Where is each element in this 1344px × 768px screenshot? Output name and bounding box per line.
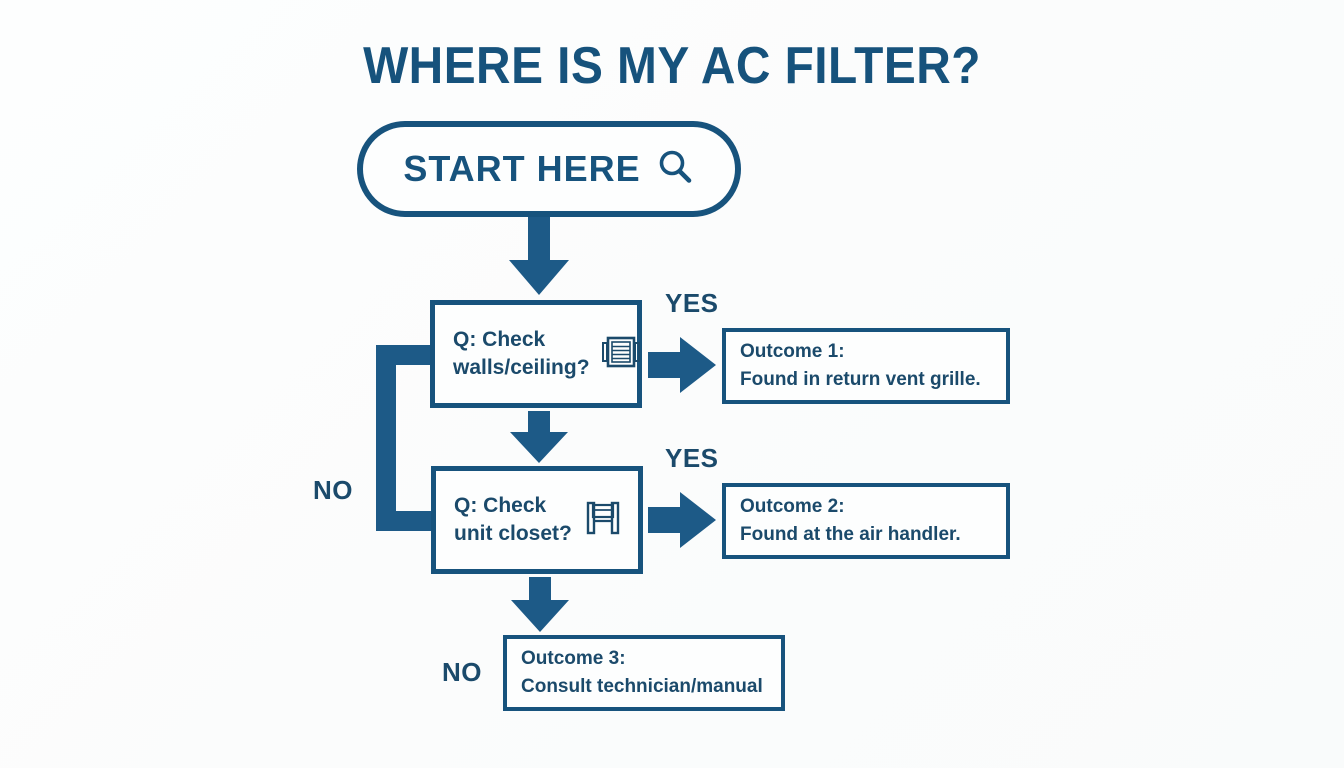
outcome2-line2: Found at the air handler. <box>740 524 961 545</box>
outcome3-line1: Outcome 3: <box>521 648 626 669</box>
arrow-question2-yes-outcome2 <box>648 492 716 548</box>
question1-text: Q: Check walls/ceiling? <box>453 326 590 383</box>
outcome3-line2: Consult technician/manual <box>521 676 763 697</box>
question2-line2: unit closet? <box>454 522 572 545</box>
magnifier-icon <box>655 147 695 192</box>
question-node-unit-closet[interactable]: Q: Check unit closet? <box>431 466 643 574</box>
edge-label-yes-2: YES <box>665 443 719 474</box>
outcome1-text: Outcome 1: Found in return vent grille. <box>740 338 981 393</box>
outcome2-line1: Outcome 2: <box>740 496 845 517</box>
outcome1-line2: Found in return vent grille. <box>740 369 981 390</box>
outcome-node-1[interactable]: Outcome 1: Found in return vent grille. <box>722 328 1010 404</box>
edge-label-yes-1: YES <box>665 288 719 319</box>
connector-no-bracket <box>386 355 432 521</box>
question2-text: Q: Check unit closet? <box>454 492 572 549</box>
outcome-node-2[interactable]: Outcome 2: Found at the air handler. <box>722 483 1010 559</box>
edge-label-no-2: NO <box>442 657 482 688</box>
question-node-walls-ceiling[interactable]: Q: Check walls/ceiling? <box>430 300 642 408</box>
outcome1-line1: Outcome 1: <box>740 341 845 362</box>
page-title: WHERE IS MY AC FILTER? <box>54 36 1290 96</box>
question1-line1: Q: Check <box>453 328 545 351</box>
start-here-label: START HERE <box>403 148 640 190</box>
flowchart-canvas: WHERE IS MY AC FILTER? <box>0 0 1344 768</box>
air-handler-icon <box>580 495 626 546</box>
question2-line1: Q: Check <box>454 494 546 517</box>
outcome3-text: Outcome 3: Consult technician/manual <box>521 645 763 700</box>
outcome-node-3[interactable]: Outcome 3: Consult technician/manual <box>503 635 785 711</box>
edge-label-no-1: NO <box>313 475 353 506</box>
start-here-node[interactable]: START HERE <box>357 121 741 217</box>
question1-line2: walls/ceiling? <box>453 356 590 379</box>
arrow-question1-to-question2 <box>510 411 568 463</box>
arrow-question2-no-outcome3 <box>511 577 569 632</box>
vent-grille-icon <box>598 329 644 380</box>
arrow-question1-yes-outcome1 <box>648 337 716 393</box>
outcome2-text: Outcome 2: Found at the air handler. <box>740 493 961 548</box>
arrow-start-to-question1 <box>509 217 569 295</box>
